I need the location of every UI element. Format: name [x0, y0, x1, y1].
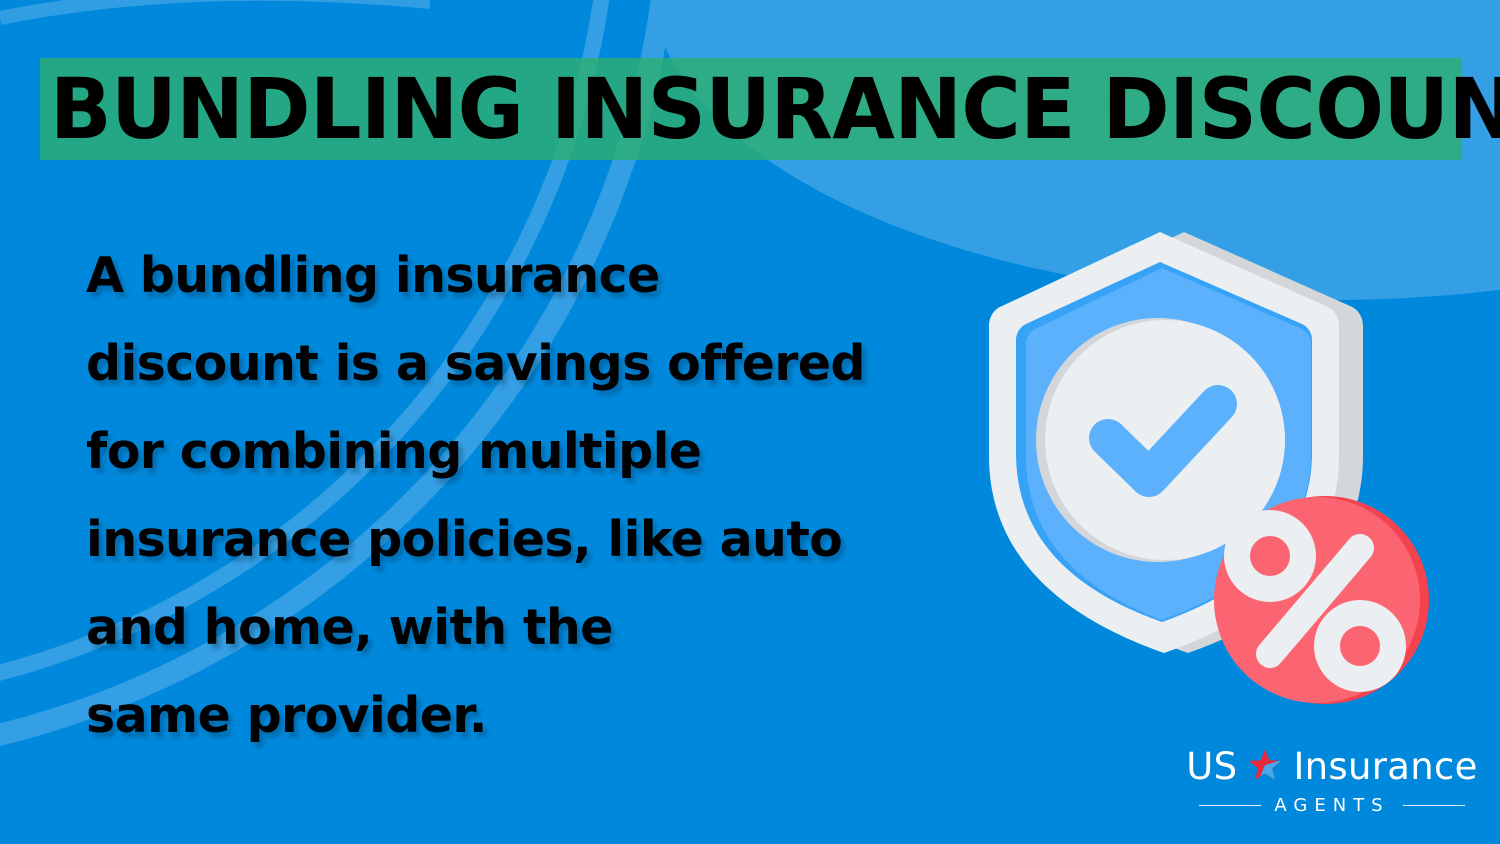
body-line: same provider.: [86, 672, 966, 760]
page-title: BUNDLING INSURANCE DISCOUNT: [50, 55, 1500, 165]
body-line: for combining multiple: [86, 408, 966, 496]
logo-secondary-row: AGENTS: [1192, 795, 1472, 816]
body-line: and home, with the: [86, 584, 966, 672]
logo-primary-row: US Insurance: [1192, 744, 1472, 790]
infographic-canvas: BUNDLING INSURANCE DISCOUNT A bundling i…: [0, 0, 1500, 844]
shield-check-illustration: [950, 210, 1450, 710]
background-corner-arc: [0, 0, 430, 18]
star-icon: [1248, 748, 1282, 787]
logo: US Insurance AGENTS: [1192, 744, 1472, 822]
logo-us-text: US: [1186, 747, 1237, 787]
body-line: A bundling insurance: [86, 232, 966, 320]
logo-rule-left: [1199, 805, 1261, 806]
logo-insurance-text: Insurance: [1293, 747, 1477, 787]
body-line: discount is a savings offered: [86, 320, 966, 408]
logo-agents-text: AGENTS: [1274, 795, 1389, 816]
logo-rule-right: [1403, 805, 1465, 806]
body-copy: A bundling insurance discount is a savin…: [86, 232, 966, 760]
body-line: insurance policies, like auto: [86, 496, 966, 584]
